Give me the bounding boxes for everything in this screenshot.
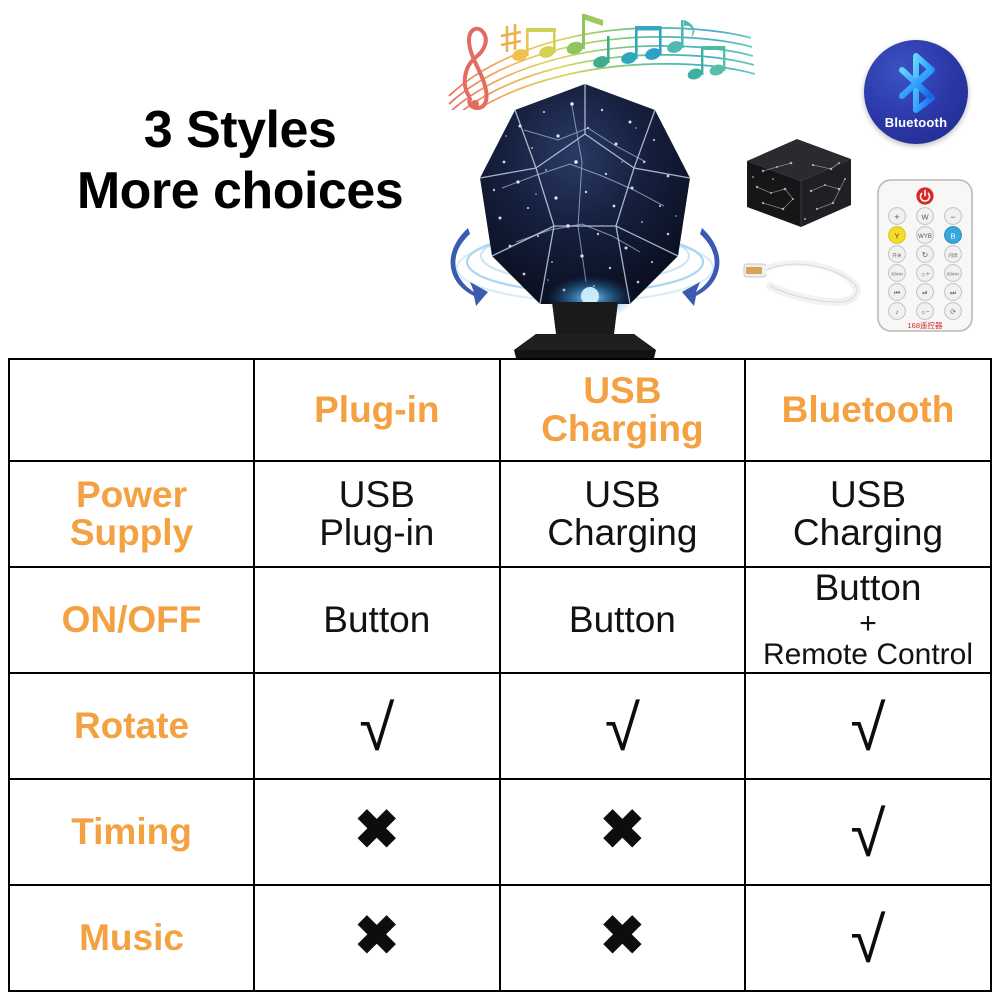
svg-text:30min: 30min <box>891 272 904 277</box>
svg-text:⟳: ⟳ <box>950 309 956 316</box>
cell-music-bluetooth: √ <box>745 885 991 991</box>
comparison-table: Plug-in USB Charging Bluetooth Power Sup… <box>8 358 992 992</box>
table-row-timing: Timing ✖ ✖ √ <box>9 779 991 885</box>
check-icon: √ <box>359 696 394 760</box>
gift-box-icon <box>739 133 857 233</box>
svg-text:60min: 60min <box>947 272 960 277</box>
bluetooth-badge-label: Bluetooth <box>864 115 968 130</box>
svg-text:WYB: WYB <box>918 234 932 240</box>
cell-on-off-bluetooth-plus: + <box>750 608 986 640</box>
remote-model-label: 168遥控器 <box>907 320 943 330</box>
row-label-rotate: Rotate <box>9 673 254 779</box>
cross-icon: ✖ <box>354 803 399 857</box>
svg-text:+: + <box>894 212 899 222</box>
table-header-row: Plug-in USB Charging Bluetooth <box>9 359 991 461</box>
cell-power-supply-usb-charging-line1: USB <box>505 476 741 514</box>
cell-power-supply-bluetooth-line2: Charging <box>750 514 986 552</box>
cross-icon: ✖ <box>600 909 645 963</box>
check-icon: √ <box>850 908 885 972</box>
row-label-power-supply-line2: Supply <box>14 514 249 552</box>
svg-text:闪烁: 闪烁 <box>948 252 958 258</box>
row-label-power-supply-line1: Power <box>14 476 249 514</box>
cell-on-off-bluetooth-line1: Button <box>750 569 986 607</box>
cell-rotate-usb-charging: √ <box>500 673 746 779</box>
svg-text:♪: ♪ <box>895 309 899 316</box>
page-title: 3 Styles More choices <box>40 100 440 223</box>
svg-text:⏮: ⏮ <box>894 290 900 297</box>
remote-control-icon: + W − Y WYB B 开关 ↻ 闪烁 <box>876 178 974 333</box>
cell-power-supply-usb-charging-line2: Charging <box>505 514 741 552</box>
row-label-rotate-line1: Rotate <box>14 707 249 745</box>
table-row-on-off: ON/OFF Button Button Button + Remote Con… <box>9 567 991 673</box>
cell-on-off-plug-in-line1: Button <box>259 601 495 639</box>
table-row-power-supply: Power Supply USB Plug-in USB Charging US… <box>9 461 991 567</box>
cell-timing-usb-charging: ✖ <box>500 779 746 885</box>
check-icon: √ <box>850 802 885 866</box>
cell-power-supply-bluetooth: USB Charging <box>745 461 991 567</box>
check-icon: √ <box>850 696 885 760</box>
table-row-rotate: Rotate √ √ √ <box>9 673 991 779</box>
row-label-music: Music <box>9 885 254 991</box>
column-header-plug-in: Plug-in <box>254 359 500 461</box>
cell-music-usb-charging: ✖ <box>500 885 746 991</box>
cell-on-off-plug-in: Button <box>254 567 500 673</box>
cell-power-supply-plug-in-line1: USB <box>259 476 495 514</box>
cell-power-supply-plug-in: USB Plug-in <box>254 461 500 567</box>
cell-music-plug-in: ✖ <box>254 885 500 991</box>
cell-power-supply-plug-in-line2: Plug-in <box>259 514 495 552</box>
row-label-timing-line1: Timing <box>14 813 249 851</box>
row-label-music-line1: Music <box>14 919 249 957</box>
cell-on-off-usb-charging: Button <box>500 567 746 673</box>
column-header-usb-charging: USB Charging <box>500 359 746 461</box>
table-row-music: Music ✖ ✖ √ <box>9 885 991 991</box>
column-header-plug-in-line1: Plug-in <box>259 391 495 429</box>
svg-text:Y: Y <box>894 232 899 241</box>
star-projector-icon <box>440 66 730 361</box>
svg-text:⏯: ⏯ <box>922 290 928 297</box>
cell-on-off-usb-charging-line1: Button <box>505 601 741 639</box>
table-corner-cell <box>9 359 254 461</box>
bluetooth-badge: Bluetooth <box>864 40 968 144</box>
cell-rotate-bluetooth: √ <box>745 673 991 779</box>
svg-text:↻: ↻ <box>922 251 929 260</box>
headline-line-2: More choices <box>40 161 440 222</box>
product-hero: 3 Styles More choices <box>0 0 1000 358</box>
row-label-timing: Timing <box>9 779 254 885</box>
svg-text:开关: 开关 <box>892 252 902 259</box>
row-label-on-off-line1: ON/OFF <box>14 601 249 639</box>
check-icon: √ <box>605 696 640 760</box>
cell-rotate-plug-in: √ <box>254 673 500 779</box>
column-header-bluetooth: Bluetooth <box>745 359 991 461</box>
svg-text:☼−: ☼− <box>920 309 930 316</box>
svg-text:B: B <box>950 232 955 241</box>
column-header-usb-charging-line2: Charging <box>505 410 741 448</box>
cell-timing-bluetooth: √ <box>745 779 991 885</box>
svg-text:W: W <box>921 213 929 222</box>
cell-power-supply-bluetooth-line1: USB <box>750 476 986 514</box>
cross-icon: ✖ <box>354 909 399 963</box>
cell-on-off-bluetooth-line3: Remote Control <box>750 639 986 671</box>
row-label-on-off: ON/OFF <box>9 567 254 673</box>
usb-cable-icon <box>740 248 870 310</box>
cell-on-off-bluetooth: Button + Remote Control <box>745 567 991 673</box>
column-header-usb-charging-line1: USB <box>505 372 741 410</box>
cell-power-supply-usb-charging: USB Charging <box>500 461 746 567</box>
svg-text:⏭: ⏭ <box>950 290 957 297</box>
bluetooth-icon <box>864 48 968 114</box>
svg-text:−: − <box>950 212 955 222</box>
column-header-bluetooth-line1: Bluetooth <box>750 391 986 429</box>
cross-icon: ✖ <box>600 803 645 857</box>
headline-line-1: 3 Styles <box>40 100 440 161</box>
row-label-power-supply: Power Supply <box>9 461 254 567</box>
svg-text:☼+: ☼+ <box>920 271 930 278</box>
cell-timing-plug-in: ✖ <box>254 779 500 885</box>
